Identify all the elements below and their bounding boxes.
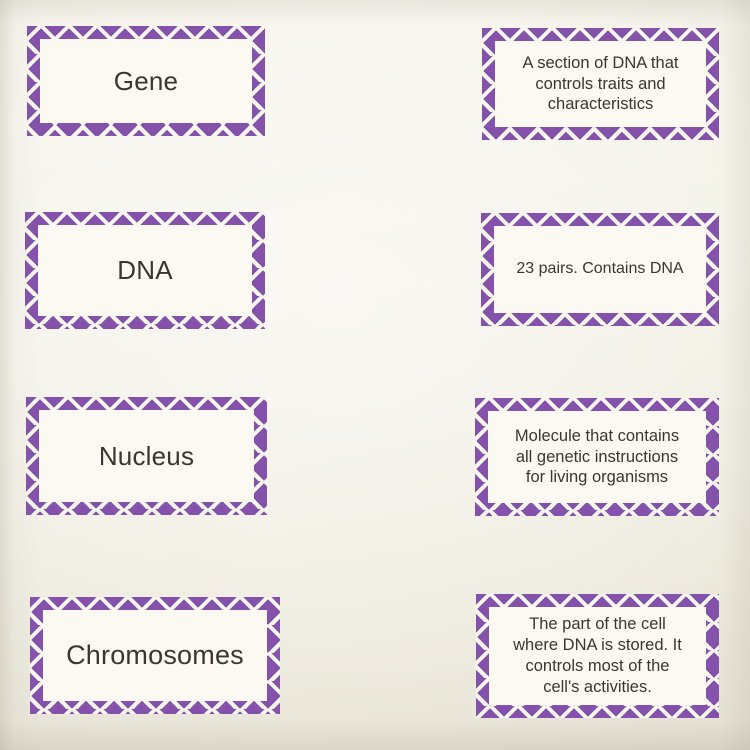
definition-card-chromosomes[interactable]: 23 pairs. Contains DNA xyxy=(481,213,719,326)
term-card-dna[interactable]: DNA xyxy=(25,212,265,329)
term-card-chromosomes-label: Chromosomes xyxy=(43,610,267,701)
definition-card-dna-text: Molecule that contains all genetic instr… xyxy=(488,411,706,503)
definition-card-nucleus-text: The part of the cell where DNA is stored… xyxy=(489,607,706,705)
definition-card-gene[interactable]: A section of DNA that controls traits an… xyxy=(482,28,719,140)
definition-card-gene-text: A section of DNA that controls traits an… xyxy=(495,41,706,127)
definition-card-chromosomes-text: 23 pairs. Contains DNA xyxy=(494,226,706,313)
term-card-chromosomes[interactable]: Chromosomes xyxy=(30,597,280,714)
definition-card-dna[interactable]: Molecule that contains all genetic instr… xyxy=(475,398,719,516)
term-card-gene-label: Gene xyxy=(40,39,252,123)
term-card-nucleus[interactable]: Nucleus xyxy=(26,397,267,515)
term-card-dna-label: DNA xyxy=(38,225,252,316)
matching-worksheet: Gene DNA Nucleus Chromosomes A section o… xyxy=(0,0,750,750)
term-card-gene[interactable]: Gene xyxy=(27,26,265,136)
term-card-nucleus-label: Nucleus xyxy=(39,410,254,502)
definition-card-nucleus[interactable]: The part of the cell where DNA is stored… xyxy=(476,594,719,718)
